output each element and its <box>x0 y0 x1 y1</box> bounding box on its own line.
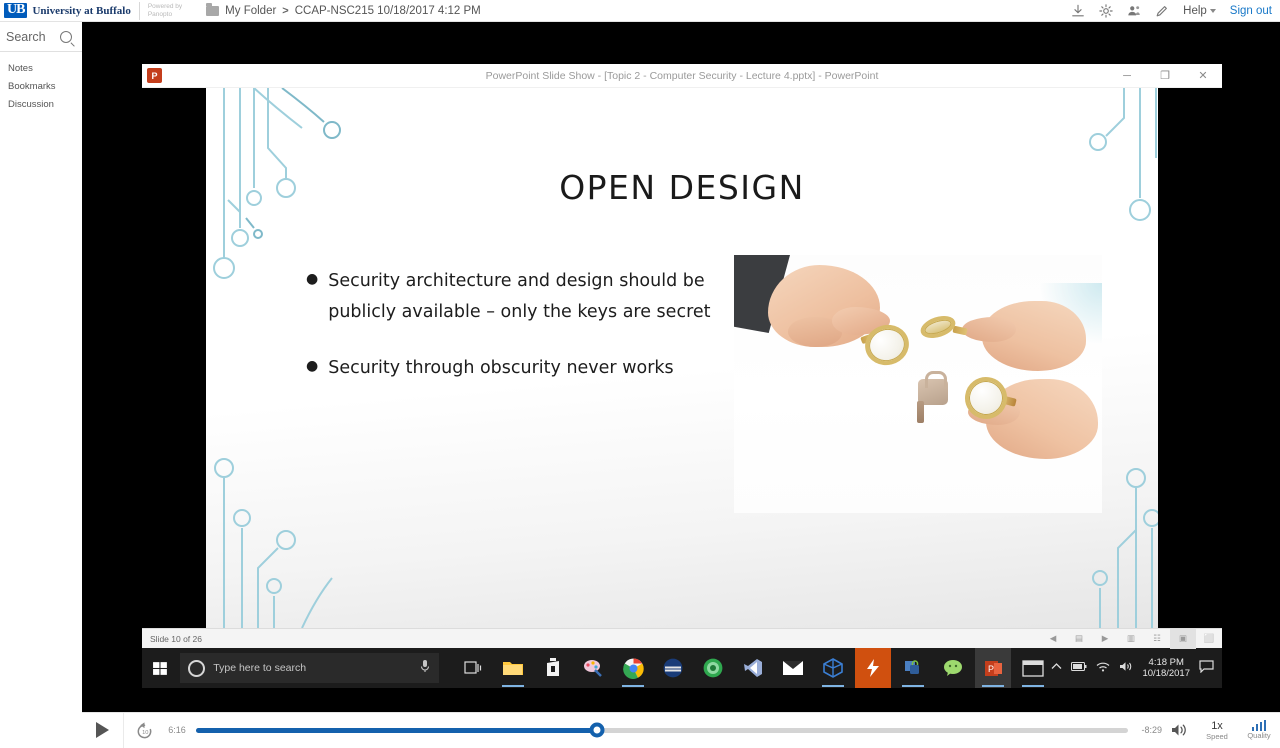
volume-icon <box>1171 723 1188 737</box>
close-button[interactable]: ✕ <box>1184 64 1222 88</box>
panopto-player-controls: 10 6:16 -8:29 1x Speed Quality <box>82 712 1280 747</box>
download-icon[interactable] <box>1071 4 1085 18</box>
quality-label: Quality <box>1247 732 1270 740</box>
powerpoint-titlebar: P PowerPoint Slide Show - [Topic 2 - Com… <box>142 64 1222 88</box>
slide-bullet-text: Security architecture and design should … <box>328 266 726 327</box>
volume-button[interactable] <box>1162 723 1196 737</box>
microsoft-store-icon[interactable] <box>535 648 571 688</box>
capture-app-icon[interactable] <box>855 648 891 688</box>
slide-sorter-icon[interactable]: ☷ <box>1144 629 1170 649</box>
ub-logo[interactable]: UB University at Buffalo <box>0 0 131 22</box>
seek-bar[interactable] <box>196 713 1128 748</box>
action-center-icon[interactable] <box>1199 660 1214 676</box>
security-app-icon[interactable] <box>895 648 931 688</box>
visual-studio-icon[interactable] <box>735 648 771 688</box>
slide-image-hands-magnifiers <box>734 255 1102 513</box>
share-people-icon[interactable] <box>1127 4 1141 18</box>
slide-bullet-item: ● Security architecture and design shoul… <box>306 266 726 327</box>
app-header: UB University at Buffalo Powered by Pano… <box>0 0 1280 22</box>
sidebar-item-notes[interactable]: Notes <box>0 59 82 77</box>
task-view-icon[interactable] <box>455 648 491 688</box>
cortana-ring-icon <box>188 660 205 677</box>
powerpoint-window: P PowerPoint Slide Show - [Topic 2 - Com… <box>142 64 1222 668</box>
magnifier-handle-upper <box>952 326 967 336</box>
folder-icon <box>206 6 219 16</box>
circuit-decoration-bottom-left-icon <box>206 418 356 628</box>
file-explorer-icon[interactable] <box>495 648 531 688</box>
slide-bullet-list: ● Security architecture and design shoul… <box>306 266 726 410</box>
remaining-time-label: -8:29 <box>1134 725 1162 735</box>
powerpoint-icon[interactable]: P <box>975 648 1011 688</box>
wifi-icon[interactable] <box>1096 661 1110 675</box>
breadcrumb-separator: > <box>282 5 288 17</box>
slide-title: OPEN DESIGN <box>206 168 1158 207</box>
wechat-icon[interactable] <box>935 648 971 688</box>
help-label: Help <box>1183 5 1207 17</box>
microphone-icon[interactable] <box>419 659 431 678</box>
windows-start-icon[interactable] <box>142 648 179 688</box>
help-menu[interactable]: Help <box>1183 5 1216 17</box>
paint-3d-icon[interactable] <box>575 648 611 688</box>
taskbar-clock[interactable]: 4:18 PM 10/18/2017 <box>1142 657 1190 680</box>
quality-bars-icon <box>1252 720 1267 731</box>
bullet-dot-icon: ● <box>306 353 318 384</box>
svg-text:P: P <box>988 664 994 674</box>
battery-icon[interactable] <box>1071 662 1087 674</box>
taskbar-app-list: P <box>455 648 1051 688</box>
taskbar-search-placeholder: Type here to search <box>213 662 306 674</box>
playback-speed-button[interactable]: 1x Speed <box>1196 720 1238 741</box>
ub-logo-mark: UB <box>4 3 27 18</box>
seek-progress-fill <box>196 728 597 733</box>
header-divider <box>139 2 140 20</box>
seek-track[interactable] <box>196 728 1128 733</box>
minimize-button[interactable]: ─ <box>1108 64 1146 88</box>
sidebar-nav: Notes Bookmarks Discussion <box>0 52 82 113</box>
system-tray: 4:18 PM 10/18/2017 <box>1051 657 1222 680</box>
rewind-10-icon: 10 <box>135 721 154 740</box>
speed-value: 1x <box>1211 720 1223 732</box>
breadcrumb-folder[interactable]: My Folder <box>225 5 276 17</box>
search-icon[interactable] <box>60 31 72 43</box>
window-app-icon[interactable] <box>1015 648 1051 688</box>
windows-taskbar: Type here to search <box>142 648 1222 688</box>
notes-icon[interactable]: ▤ <box>1066 629 1092 649</box>
clock-time: 4:18 PM <box>1142 657 1190 669</box>
cortana-search-input[interactable]: Type here to search <box>180 653 439 683</box>
chevron-down-icon <box>1210 9 1216 13</box>
powerpoint-window-title: PowerPoint Slide Show - [Topic 2 - Compu… <box>142 70 1222 82</box>
rewind-10-button[interactable]: 10 <box>124 713 164 748</box>
header-actions: Help Sign out <box>1071 4 1280 18</box>
breadcrumb: My Folder > CCAP-NSC215 10/18/2017 4:12 … <box>206 5 481 17</box>
status-bar-icons: ◀ ▤ ▶ ▥ ☷ ▣ ⬜ <box>1040 629 1222 649</box>
normal-view-icon[interactable]: ▥ <box>1118 629 1144 649</box>
presentation-slide: OPEN DESIGN ● Security architecture and … <box>206 88 1158 628</box>
search-input[interactable]: Search <box>0 22 82 52</box>
hand-right-upper-fingers-shape <box>962 317 1016 342</box>
pencil-icon[interactable] <box>1155 4 1169 18</box>
google-chrome-icon[interactable] <box>615 648 651 688</box>
gear-icon[interactable] <box>1099 4 1113 18</box>
bullet-dot-icon: ● <box>306 266 318 327</box>
play-button[interactable] <box>82 713 124 748</box>
powerpoint-status-bar: Slide 10 of 26 ◀ ▤ ▶ ▥ ☷ ▣ ⬜ <box>142 628 1222 648</box>
breadcrumb-current: CCAP-NSC215 10/18/2017 4:12 PM <box>295 5 481 17</box>
edge-browser-icon[interactable] <box>655 648 691 688</box>
slide-bullet-item: ● Security through obscurity never works <box>306 353 726 384</box>
sign-out-link[interactable]: Sign out <box>1230 5 1272 17</box>
clock-date: 10/18/2017 <box>1142 668 1190 680</box>
video-stage[interactable]: P PowerPoint Slide Show - [Topic 2 - Com… <box>82 22 1280 712</box>
window-controls: ─ ❐ ✕ <box>1108 64 1222 88</box>
reading-view-icon[interactable]: ▣ <box>1170 629 1196 649</box>
show-hidden-icons-chevron[interactable] <box>1051 662 1062 674</box>
slideshow-icon[interactable]: ⬜ <box>1196 629 1222 649</box>
next-slide-icon[interactable]: ▶ <box>1092 629 1118 649</box>
quality-button[interactable]: Quality <box>1238 720 1280 740</box>
search-label: Search <box>6 30 46 44</box>
speed-label: Speed <box>1206 733 1228 741</box>
magnifying-glass-upper-icon <box>918 312 958 342</box>
mail-icon[interactable] <box>775 648 811 688</box>
sidebar-item-discussion[interactable]: Discussion <box>0 95 82 113</box>
firefox-icon[interactable] <box>695 648 731 688</box>
current-time-label: 6:16 <box>164 725 190 735</box>
seek-handle[interactable] <box>589 723 604 738</box>
svg-text:10: 10 <box>142 729 148 735</box>
slide-area: OPEN DESIGN ● Security architecture and … <box>142 88 1222 628</box>
powered-by-panopto: Powered by Panopto <box>148 3 182 19</box>
ub-logo-name: University at Buffalo <box>32 5 130 17</box>
slide-counter: Slide 10 of 26 <box>142 634 202 644</box>
padlock-key-shape <box>917 401 924 423</box>
slide-bullet-text: Security through obscurity never works <box>328 353 673 384</box>
play-icon <box>96 722 109 738</box>
3d-viewer-icon[interactable] <box>815 648 851 688</box>
sidebar-item-bookmarks[interactable]: Bookmarks <box>0 77 82 95</box>
volume-icon[interactable] <box>1119 661 1133 675</box>
restore-button[interactable]: ❐ <box>1146 64 1184 88</box>
left-sidebar: Search Notes Bookmarks Discussion <box>0 22 82 747</box>
previous-slide-icon[interactable]: ◀ <box>1040 629 1066 649</box>
